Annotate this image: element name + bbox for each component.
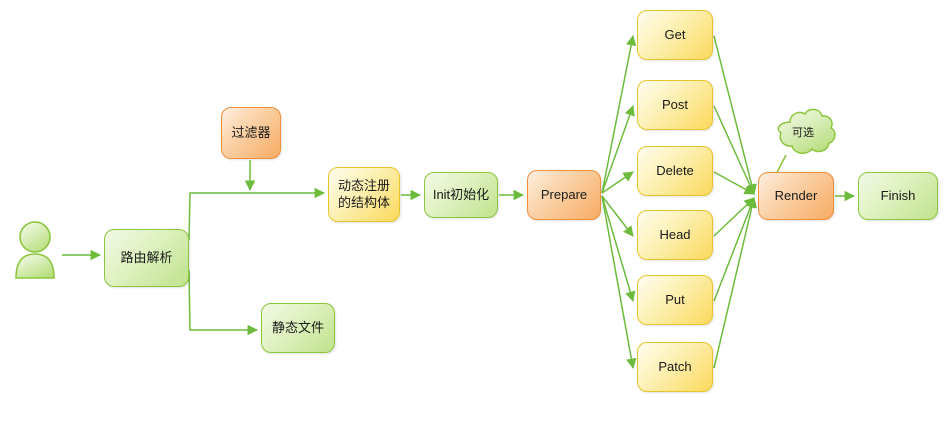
node-register-label: 动态注册 的结构体 [338, 178, 390, 211]
node-patch[interactable]: Patch [637, 342, 713, 392]
node-post[interactable]: Post [637, 80, 713, 130]
node-static[interactable]: 静态文件 [261, 303, 335, 353]
edge-patch-render [714, 198, 754, 368]
node-register[interactable]: 动态注册 的结构体 [328, 167, 400, 222]
node-finish-label: Finish [881, 188, 916, 204]
edge-route-register [189, 193, 324, 240]
node-head[interactable]: Head [637, 210, 713, 260]
node-render-label: Render [775, 188, 818, 204]
edge-delete-render [714, 172, 754, 194]
edge-prepare-delete [602, 172, 633, 193]
node-prepare-label: Prepare [541, 187, 587, 203]
node-patch-label: Patch [658, 359, 691, 375]
edge-route-static [189, 270, 257, 330]
node-static-label: 静态文件 [272, 320, 324, 336]
node-post-label: Post [662, 97, 688, 113]
node-render[interactable]: Render [758, 172, 834, 220]
node-delete-label: Delete [656, 163, 694, 179]
edge-prepare-post [602, 106, 633, 193]
edge-get-render [714, 36, 754, 194]
node-init[interactable]: Init初始化 [424, 172, 498, 218]
edge-prepare-head [602, 196, 633, 236]
actor [16, 222, 56, 282]
node-prepare[interactable]: Prepare [527, 170, 601, 220]
node-route-label: 路由解析 [120, 250, 172, 266]
edge-prepare-get [602, 36, 633, 193]
edge-layer [0, 0, 951, 448]
edge-head-render [714, 198, 754, 236]
edge-post-render [714, 106, 754, 194]
optional-callout-label: 可选 [792, 124, 814, 140]
node-filter-label: 过滤器 [231, 125, 270, 141]
edge-prepare-patch [602, 196, 633, 368]
node-init-label: Init初始化 [433, 187, 489, 203]
flowchart-canvas: 路由解析 过滤器 静态文件 动态注册 的结构体 Init初始化 Prepare … [0, 0, 951, 448]
node-head-label: Head [659, 227, 690, 243]
node-put[interactable]: Put [637, 275, 713, 325]
node-get[interactable]: Get [637, 10, 713, 60]
node-delete[interactable]: Delete [637, 146, 713, 196]
node-put-label: Put [665, 292, 685, 308]
node-finish[interactable]: Finish [858, 172, 938, 220]
node-get-label: Get [665, 27, 686, 43]
node-route[interactable]: 路由解析 [104, 229, 189, 287]
node-filter[interactable]: 过滤器 [221, 107, 281, 159]
